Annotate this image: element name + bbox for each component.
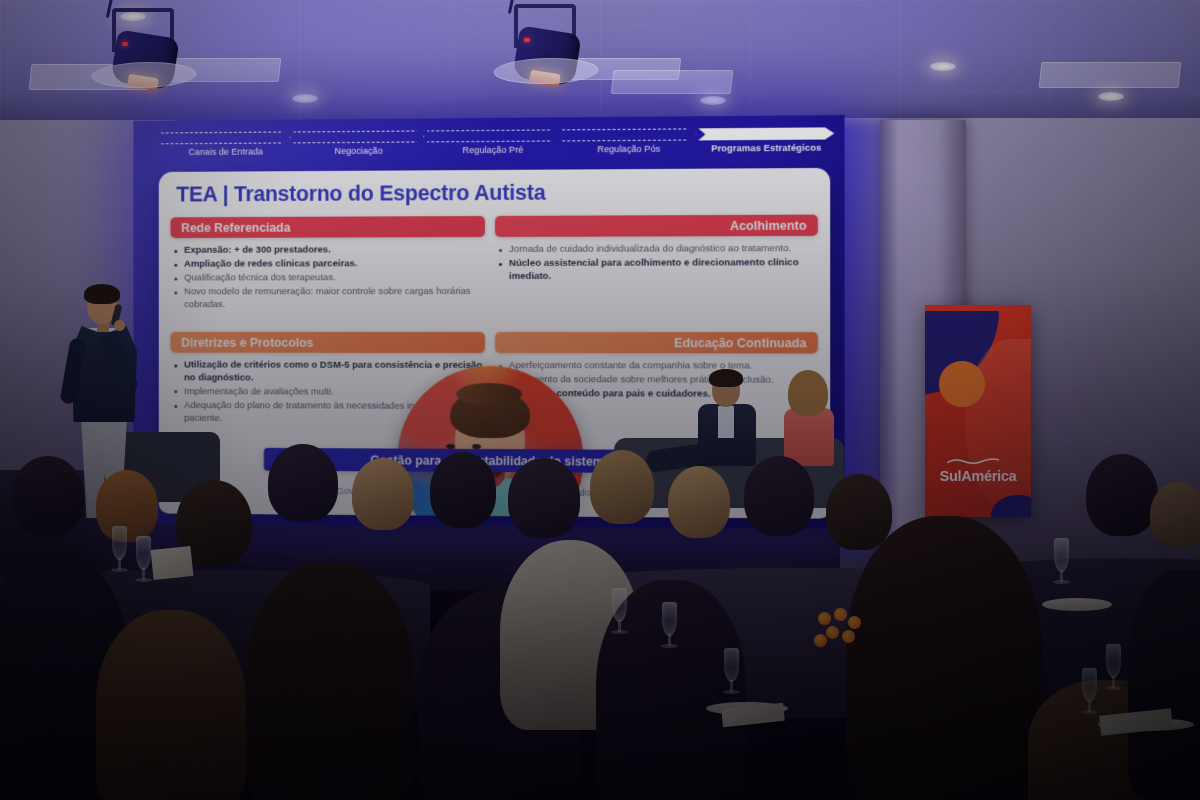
wine-glass (1054, 538, 1069, 572)
bullet-item: Novo modelo de remuneração: maior contro… (173, 286, 485, 311)
breadcrumb-step-3: Regulação Pré (427, 129, 560, 164)
audience-head (268, 444, 338, 522)
audience-head (430, 452, 496, 528)
breadcrumb-label: Canais de Entrada (161, 146, 291, 157)
breadcrumb-label: Negociação (293, 145, 425, 156)
quadrant-heading: Rede Referenciada (170, 216, 485, 238)
chevron-shape (427, 129, 560, 142)
audience-head (1150, 482, 1200, 548)
wine-glass (724, 648, 739, 682)
ceiling-tile (1039, 62, 1182, 88)
panelist-man-hair (709, 369, 743, 387)
audience-head (744, 456, 814, 536)
audience-head (12, 456, 84, 536)
chevron-shape (562, 128, 697, 141)
chevron-shape (293, 130, 425, 143)
bullet-item: Núcleo assistencial para acolhimento e d… (498, 257, 818, 283)
audience-head (590, 450, 654, 524)
bullet-list: Jornada de cuidado individualizada do di… (495, 243, 818, 283)
flower-centerpiece (812, 608, 872, 658)
quadrant-acolhimento: Acolhimento Jornada de cuidado individua… (495, 215, 818, 326)
speaker-hair (84, 284, 120, 304)
bullet-item: Ampliação de redes clinicas parceiras. (173, 258, 485, 271)
wine-glass (136, 536, 151, 570)
downlight (292, 94, 318, 103)
wine-glass (612, 588, 627, 622)
audience-head (668, 466, 730, 538)
wine-glass (112, 526, 127, 560)
audience-foreground (846, 516, 1042, 800)
breadcrumb-step-1: Canais de Entrada (161, 131, 291, 166)
audience-head (826, 474, 892, 550)
ceiling (0, 0, 1200, 132)
breadcrumb-step-2: Negociação (293, 130, 425, 165)
bullet-item: Qualificação técnica dos terapeutas. (173, 272, 485, 285)
quadrant-heading: Educação Continuada (495, 332, 818, 353)
bullet-item: Jornada de cuidado individualizada do di… (498, 243, 818, 257)
audience-head (352, 458, 414, 530)
napkin (151, 546, 194, 580)
breadcrumb-label: Programas Estratégicos (698, 143, 834, 154)
wine-glass (1082, 668, 1097, 702)
breadcrumb-step-4: Regulação Pós (562, 128, 697, 163)
chevron-shape (698, 127, 834, 140)
quadrant-heading: Acolhimento (495, 215, 818, 237)
slide-title: TEA | Transtorno do Espectro Autista (176, 181, 545, 208)
speaker-hand (114, 320, 125, 331)
wine-glass (1106, 644, 1121, 678)
breadcrumb: Canais de Entrada Negociação Regulação P… (161, 127, 835, 166)
breadcrumb-label: Regulação Pós (562, 143, 697, 154)
breadcrumb-label: Regulação Pré (427, 144, 560, 155)
downlight (1098, 92, 1124, 101)
bullet-list: Expansão: + de 300 prestadores. Ampliaçã… (170, 244, 485, 312)
quadrant-heading: Diretrizes e Protocolos (170, 332, 485, 353)
audience-foreground (96, 610, 246, 800)
audience-foreground (246, 562, 414, 800)
conference-scene: Canais de Entrada Negociação Regulação P… (0, 0, 1200, 800)
downlight (700, 96, 726, 105)
audience-foreground (1128, 570, 1200, 800)
audience-and-tables (0, 430, 1200, 800)
panelist-woman-hair (788, 370, 828, 416)
audience-head (1086, 454, 1158, 536)
breadcrumb-step-5-active: Programas Estratégicos (698, 127, 834, 162)
ceiling-tile (611, 70, 734, 94)
bullet-item: Expansão: + de 300 prestadores. (173, 244, 485, 257)
wine-glass (662, 602, 677, 636)
chevron-shape (161, 131, 291, 144)
audience-head (508, 458, 580, 538)
downlight (930, 62, 956, 71)
audience-head (96, 470, 158, 542)
banner-orange-circle (939, 361, 985, 407)
quadrant-rede-referenciada: Rede Referenciada Expansão: + de 300 pre… (170, 216, 485, 326)
dinner-plate (1042, 598, 1112, 611)
